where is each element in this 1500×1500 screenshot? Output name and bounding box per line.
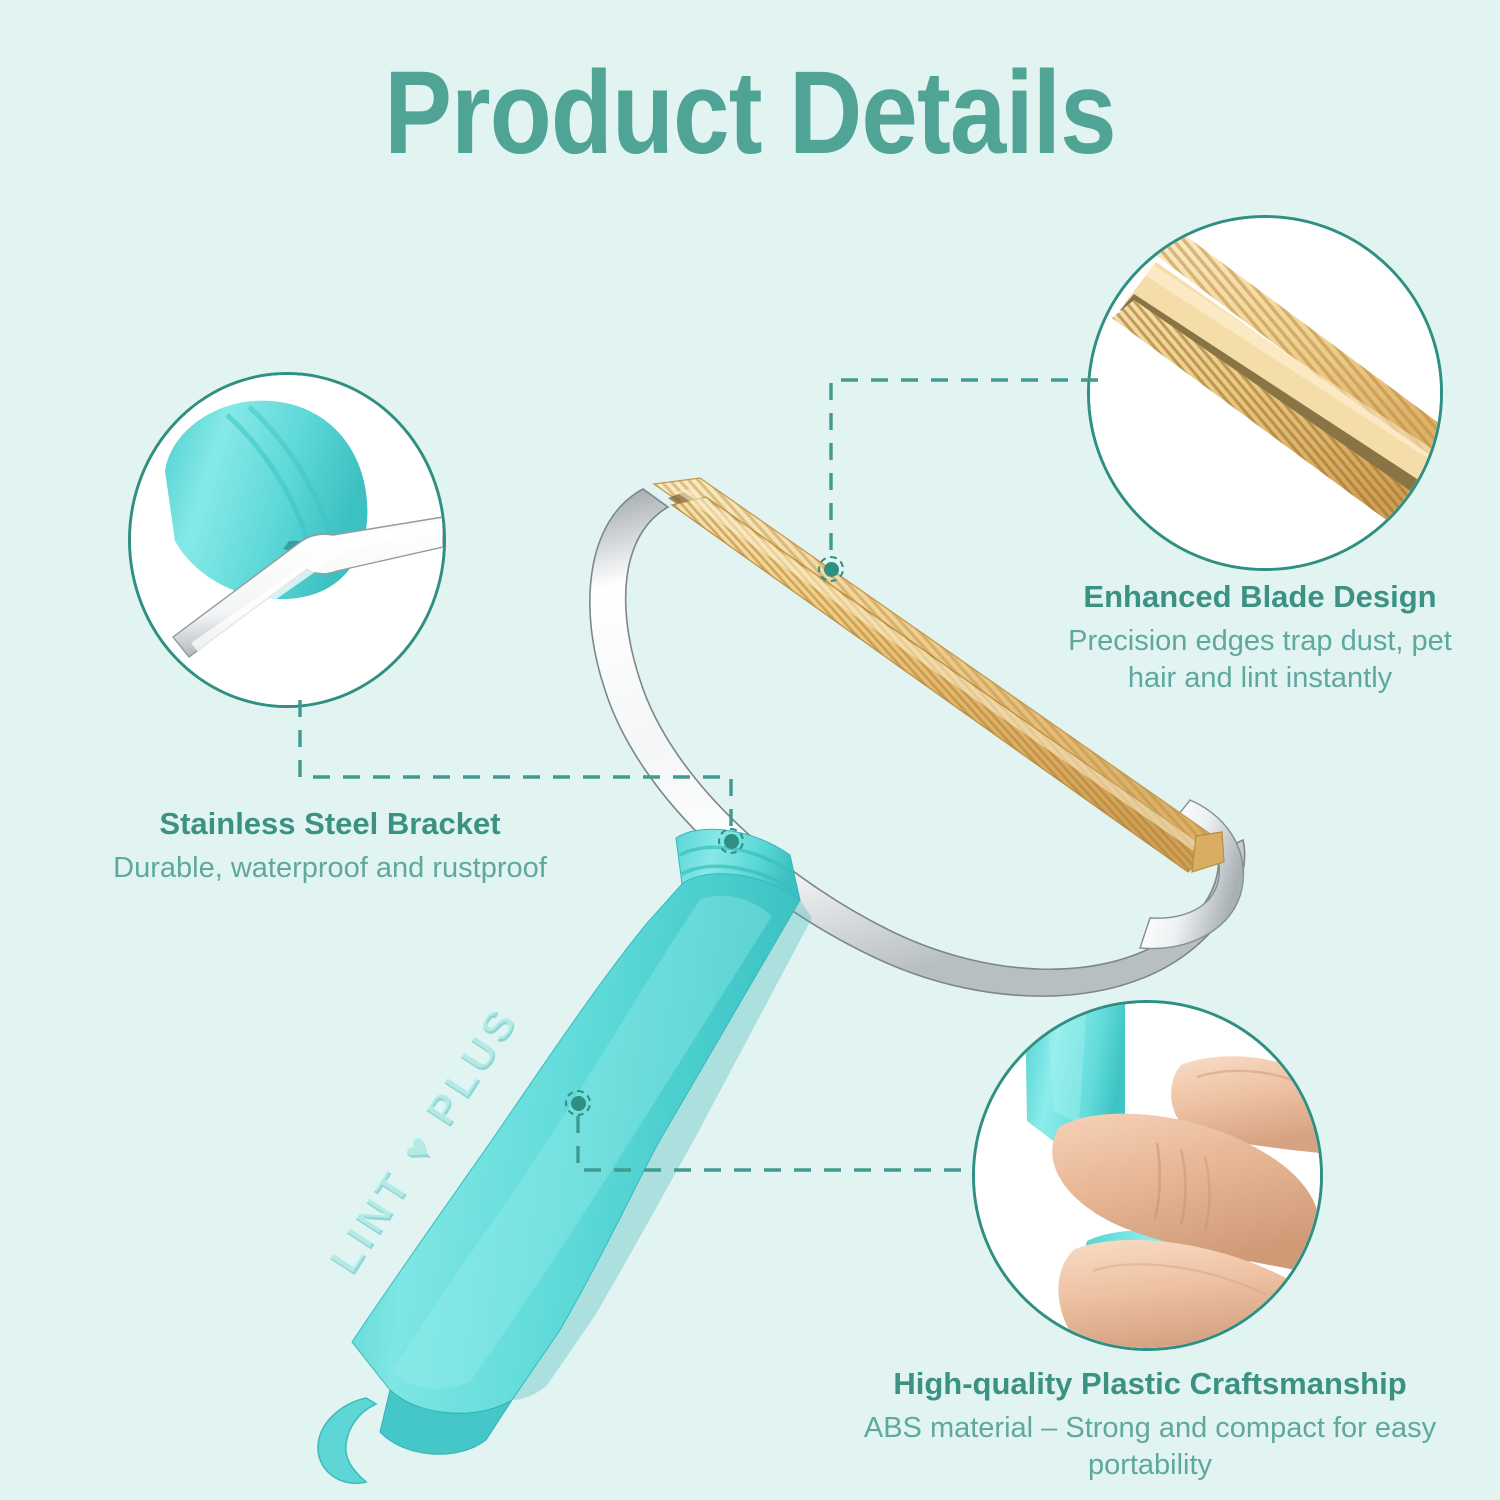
marker-dot-bracket bbox=[718, 828, 744, 854]
callout-stainless-steel-bracket: Stainless Steel Bracket Durable, waterpr… bbox=[105, 805, 555, 887]
zoom-circle-stainless-steel-bracket bbox=[128, 372, 446, 708]
zoom-circle-enhanced-blade-design bbox=[1087, 215, 1443, 571]
callout-heading: Stainless Steel Bracket bbox=[105, 805, 555, 842]
product-details-infographic: Product Details bbox=[0, 0, 1500, 1500]
callout-enhanced-blade-design: Enhanced Blade Design Precision edges tr… bbox=[1050, 578, 1470, 697]
callout-heading: Enhanced Blade Design bbox=[1050, 578, 1470, 615]
callout-body: Precision edges trap dust, pet hair and … bbox=[1050, 623, 1470, 697]
callout-heading: High-quality Plastic Craftsmanship bbox=[855, 1365, 1445, 1402]
callout-body: Durable, waterproof and rustproof bbox=[105, 850, 555, 887]
zoom-circle-high-quality-plastic-craftsmanship bbox=[972, 1000, 1323, 1351]
marker-dot-handle bbox=[565, 1090, 591, 1116]
callout-high-quality-plastic-craftsmanship: High-quality Plastic Craftsmanship ABS m… bbox=[855, 1365, 1445, 1484]
marker-dot-blade bbox=[818, 556, 844, 582]
callout-body: ABS material – Strong and compact for ea… bbox=[855, 1410, 1445, 1484]
